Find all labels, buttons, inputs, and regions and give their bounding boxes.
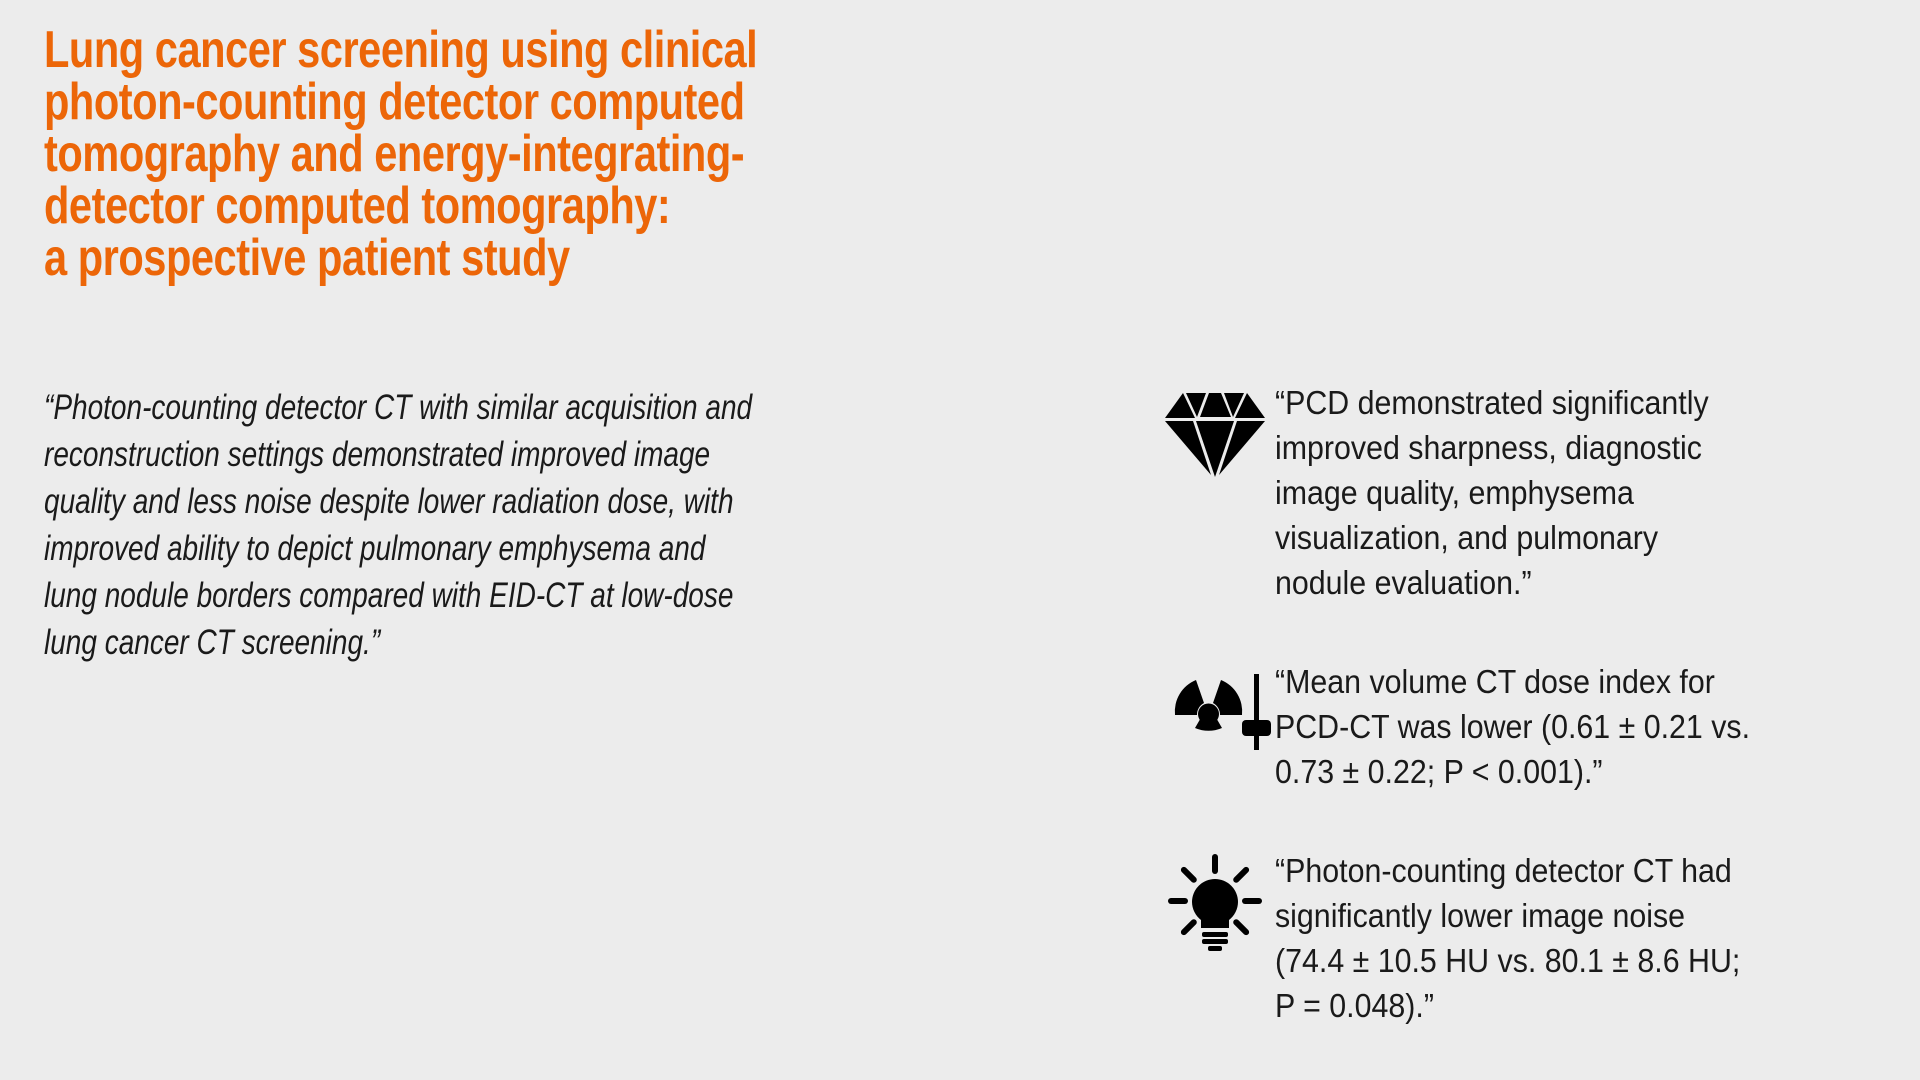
page-title: Lung cancer screening using clinical pho… [44,24,844,284]
lightbulb-icon [1155,846,1275,956]
diamond-icon [1155,378,1275,488]
finding-text: “PCD demonstrated significantly improved… [1275,378,1827,605]
list-item: “Mean volume CT dose index for PCD-CT wa… [1155,657,1875,794]
graphical-abstract-page: Lung cancer screening using clinical pho… [0,0,1920,1080]
radiation-dose-slider-icon [1155,657,1275,767]
finding-text: “Mean volume CT dose index for PCD-CT wa… [1275,657,1827,794]
finding-text: “Photon-counting detector CT had signifi… [1275,846,1827,1028]
study-summary-quote: “Photon-counting detector CT with simila… [44,384,892,666]
key-findings-list: “PCD demonstrated significantly improved… [1155,378,1875,1028]
list-item: “PCD demonstrated significantly improved… [1155,378,1875,605]
title-block: Lung cancer screening using clinical pho… [44,24,1044,284]
list-item: “Photon-counting detector CT had signifi… [1155,846,1875,1028]
